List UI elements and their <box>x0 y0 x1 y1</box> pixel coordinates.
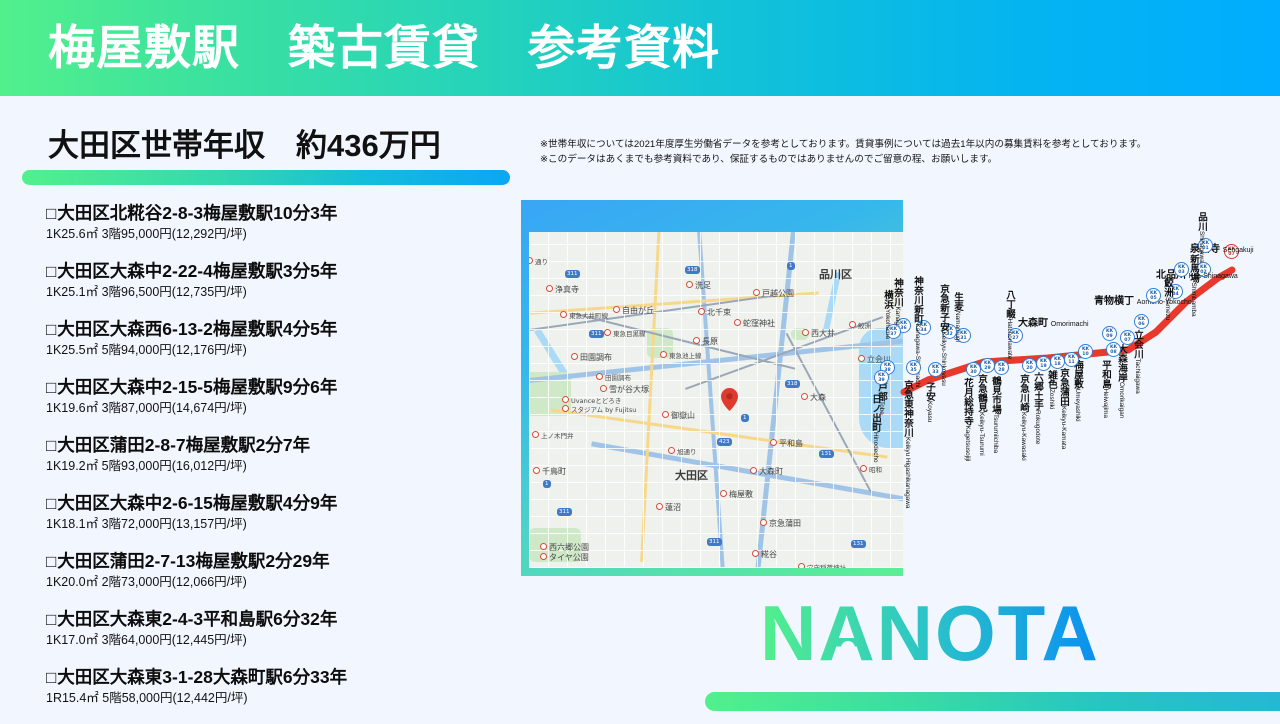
rail-station-name-rom: Omorikaigan <box>1118 382 1125 418</box>
disclaimer-line-1: ※世帯年収については2021年度厚生労働省データを参考としております。賃貸事例に… <box>540 138 1256 153</box>
listing-detail: 1K19.2㎡ 5階93,000円(16,012円/坪) <box>46 458 506 475</box>
map-label: 鮫洲 <box>858 320 871 330</box>
map-station-dot <box>613 306 620 313</box>
rail-station-name-jp: 八丁畷 <box>1004 290 1015 319</box>
rail-station-name: 雑色Zoshiki <box>1044 370 1058 409</box>
rail-station-name-rom: Tachiaigawa <box>1134 359 1141 394</box>
page-header: 梅屋敷駅 築古賃貸 参考資料 <box>0 0 1280 96</box>
listing-item: □大田区大森中2-22-4梅屋敷駅3分5年1K25.1㎡ 3階96,500円(1… <box>46 260 506 301</box>
rail-station-name-jp: 京急川崎 <box>1018 374 1029 412</box>
map-station-dot <box>562 396 569 403</box>
listing-item: □大田区大森中2-6-15梅屋敷駅4分9年1K18.1㎡ 3階72,000円(1… <box>46 492 506 533</box>
map-label: 西大井 <box>811 328 835 339</box>
listing-detail: 1R15.4㎡ 5階58,000円(12,442円/坪) <box>46 690 506 707</box>
map-station-dot <box>752 550 759 557</box>
map-station-dot <box>571 353 578 360</box>
logo-wordmark: NANOTA <box>760 596 1100 676</box>
rail-station-name: 鮫洲Samezu <box>1160 278 1174 320</box>
map-station-dot <box>562 405 569 412</box>
disclaimer-note: ※世帯年収については2021年度厚生労働省データを参考としております。賃貸事例に… <box>540 138 1256 167</box>
rail-station-name: 京急川崎Keikyu-Kawasaki <box>1016 374 1030 461</box>
rail-station-name: 新馬場Shimbamba <box>1186 254 1200 317</box>
rail-station-name-jp: 子安 <box>924 382 935 401</box>
rail-station-name: 京急東神奈川Keikyu Higashikanagawa <box>900 380 914 508</box>
listing-detail: 1K25.1㎡ 3階96,500円(12,735円/坪) <box>46 284 506 301</box>
rail-station-code: KK29 <box>980 358 995 373</box>
map-station-dot <box>801 393 808 400</box>
map-label: 東急大井町線 <box>569 310 608 320</box>
listing-title: □大田区大森中2-6-15梅屋敷駅4分9年 <box>46 492 506 515</box>
checkbox-icon[interactable]: □ <box>46 610 56 629</box>
rail-station-name: 日ノ出町Hinodecho <box>868 394 882 463</box>
map-route-shield: 318 <box>785 380 800 388</box>
rail-station-name-rom: Keikyu-Kawasaki <box>1020 412 1027 461</box>
map-station-dot <box>734 319 741 326</box>
rail-station-name-jp: 鶴見市場 <box>990 376 1001 414</box>
rail-station-name-jp: 大森町 <box>1018 318 1048 329</box>
checkbox-icon[interactable]: □ <box>46 320 56 339</box>
map-label: 大田区 <box>675 467 708 483</box>
listing-detail: 1K19.6㎡ 3階87,000円(14,674円/坪) <box>46 400 506 417</box>
rail-station-name-jp: 新馬場 <box>1188 254 1199 283</box>
map-station-dot <box>660 351 667 358</box>
rail-station-name: 六郷土手Rokugodote <box>1030 372 1044 444</box>
listing-item: □大田区大森西6-13-2梅屋敷駅4分5年1K25.5㎡ 5階94,000円(1… <box>46 318 506 359</box>
page-title: 梅屋敷駅 築古賃貸 参考資料 <box>48 10 720 86</box>
listing-address: 大田区大森中2-15-5梅屋敷駅9分6年 <box>57 377 337 397</box>
rail-station-name-jp: 六郷土手 <box>1032 372 1043 410</box>
rail-station-name: 青物横丁 Aomono-Yokocho <box>1094 292 1192 307</box>
rail-station-code: KK07 <box>1120 330 1135 345</box>
rail-station-name: 平和島Heiwajima <box>1098 360 1112 418</box>
listing-address: 大田区大森中2-22-4梅屋敷駅3分5年 <box>57 261 337 281</box>
listing-item: □大田区北糀谷2-8-3梅屋敷駅10分3年1K25.6㎡ 3階95,000円(1… <box>46 202 506 243</box>
map-route-shield: 318 <box>685 266 700 274</box>
map-route-shield: 1 <box>741 414 749 422</box>
rail-station-name: 鶴見市場Tsurumiichiba <box>988 376 1002 453</box>
rail-station-name-jp: 京急東神奈川 <box>902 380 913 437</box>
rental-listings: □大田区北糀谷2-8-3梅屋敷駅10分3年1K25.6㎡ 3階95,000円(1… <box>46 202 506 724</box>
rail-station-name: 花月総持寺Kagetsusojiji <box>960 378 974 461</box>
map-station-dot <box>698 308 705 315</box>
map-station-dot <box>596 373 603 380</box>
rail-station-name-jp: 京急新子安 <box>938 284 949 332</box>
map-route-shield: 423 <box>717 438 732 446</box>
map-station-dot <box>802 329 809 336</box>
listing-detail: 1K25.6㎡ 3階95,000円(12,292円/坪) <box>46 226 506 243</box>
rail-station-name: 京急蒲田Keikyu-Kamata <box>1056 368 1070 449</box>
map-label: 自由が丘 <box>622 305 654 316</box>
map-label: 洗足 <box>695 280 711 291</box>
disclaimer-line-2: ※このデータはあくまでも参考資料であり、保証するものではありませんのでご留意の程… <box>540 153 1256 168</box>
checkbox-icon[interactable]: □ <box>46 204 56 223</box>
rail-station-name-rom: Omorimachi <box>1051 321 1089 328</box>
map-label: 蛇窪神社 <box>743 318 775 329</box>
rail-station-name-rom: Samezu <box>1164 297 1171 320</box>
map-station-dot <box>760 519 767 526</box>
keikyu-line-diagram: KK07泉岳寺 SengakujiKK01品川ShinagawaKK02北品川 … <box>898 232 1280 532</box>
rail-station-name-rom: Yokohama <box>884 309 891 339</box>
listing-address: 大田区蒲田2-8-7梅屋敷駅2分7年 <box>57 435 310 455</box>
map-label: 穴守稲荷神社 <box>807 562 846 568</box>
listing-address: 大田区北糀谷2-8-3梅屋敷駅10分3年 <box>57 203 337 223</box>
rail-station-name-rom: Heiwajima <box>1102 389 1109 418</box>
map-station-dot <box>560 311 567 318</box>
map-station-dot <box>532 431 539 438</box>
map-route-shield: 311 <box>557 508 572 516</box>
rail-station-code: KK30 <box>966 362 981 377</box>
map-station-dot <box>860 465 867 472</box>
map-label: 東急目黒線 <box>613 328 646 338</box>
listing-detail: 1K25.5㎡ 5階94,000円(12,176円/坪) <box>46 342 506 359</box>
rail-station-name-rom: Kagetsusojiji <box>964 426 971 462</box>
map-station-dot <box>750 467 757 474</box>
rail-station-code: KK05 <box>1146 288 1161 303</box>
rail-station-code: KK33 <box>928 362 943 377</box>
checkbox-icon[interactable]: □ <box>46 436 56 455</box>
map-station-dot <box>770 439 777 446</box>
map-station-dot <box>753 289 760 296</box>
rail-station-name-jp: 日ノ出町 <box>870 394 881 432</box>
map-station-dot <box>693 337 700 344</box>
listing-item: □大田区大森東2-4-3平和島駅6分32年1K17.0㎡ 3階64,000円(1… <box>46 608 506 649</box>
map-label: 京急蒲田 <box>769 518 801 529</box>
map-station-dot <box>686 281 693 288</box>
map-route-shield: 131 <box>851 540 866 548</box>
logo-dot-a1 <box>841 641 855 655</box>
map-label: 田園調布 <box>580 352 612 363</box>
map-label: 浄真寺 <box>555 284 579 295</box>
rail-station-code: KK06 <box>1134 314 1149 329</box>
listing-address: 大田区蒲田2-7-13梅屋敷駅2分29年 <box>57 551 329 571</box>
map-label: 上ノ木門弁 <box>541 430 574 440</box>
nanota-logo: NANOTA <box>760 596 1200 676</box>
map-route-shield: 1 <box>543 480 551 488</box>
checkbox-icon[interactable]: □ <box>46 494 56 513</box>
rail-station-name-rom: Hatchonawate <box>1006 319 1013 360</box>
listing-address: 大田区大森中2-6-15梅屋敷駅4分9年 <box>57 493 337 513</box>
listing-detail: 1K17.0㎡ 3階64,000円(12,445円/坪) <box>46 632 506 649</box>
rail-station-name-rom: Keikyu-Tsurumi <box>978 412 985 456</box>
map-route-shield: 1 <box>787 262 795 270</box>
listing-title: □大田区大森東3-1-28大森町駅6分33年 <box>46 666 506 689</box>
rail-station-name-jp: 平和島 <box>1100 360 1111 389</box>
listing-title: □大田区大森中2-15-5梅屋敷駅9分6年 <box>46 376 506 399</box>
rail-station-code: KK19 <box>1036 356 1051 371</box>
logo-dot-a2 <box>1105 641 1119 655</box>
rail-station-name: 京急鶴見Keikyu-Tsurumi <box>974 374 988 456</box>
rail-station-name-jp: 鮫洲 <box>1162 278 1173 297</box>
rail-station-name: 八丁畷Hatchonawate <box>1002 290 1016 359</box>
rail-station-name-jp: 神奈川新町 <box>912 276 923 324</box>
map-route-shield: 311 <box>589 330 604 338</box>
listing-detail: 1K18.1㎡ 3階72,000円(13,157円/坪) <box>46 516 506 533</box>
rail-station-name-jp: 京急蒲田 <box>1058 368 1069 406</box>
map-station-dot <box>858 355 865 362</box>
logo-accent-bar <box>705 692 1280 711</box>
map-label: 糀谷 <box>761 549 777 560</box>
listing-title: □大田区大森西6-13-2梅屋敷駅4分5年 <box>46 318 506 341</box>
rail-station-name-rom: Keikyu-Kamata <box>1060 406 1067 449</box>
map-label: 長原 <box>702 336 718 347</box>
rail-station-name-jp: 京急鶴見 <box>976 374 987 412</box>
checkbox-icon[interactable]: □ <box>46 262 56 281</box>
map-label: 品川区 <box>819 266 852 282</box>
map-label: 蓮沼 <box>665 502 681 513</box>
map-label: 千鳥町 <box>542 466 566 477</box>
listing-detail: 1K20.0㎡ 2階73,000円(12,066円/坪) <box>46 574 506 591</box>
map-station-dot <box>533 467 540 474</box>
listing-address: 大田区大森西6-13-2梅屋敷駅4分5年 <box>57 319 337 339</box>
map-location-marker[interactable] <box>721 388 738 411</box>
rail-station-name-jp: 横浜 <box>882 290 893 309</box>
map-label: 平和島 <box>779 438 803 449</box>
map-label: 田園調布 <box>605 372 631 382</box>
map-station-dot <box>668 447 675 454</box>
rail-station-code: KK28 <box>994 360 1009 375</box>
map-label: 昭和 <box>869 464 882 474</box>
listing-item: □大田区蒲田2-8-7梅屋敷駅2分7年1K19.2㎡ 5階93,000円(16,… <box>46 434 506 475</box>
rail-station-code: KK35 <box>906 360 921 375</box>
rail-station-code: KK39 <box>874 370 889 385</box>
listing-address: 大田区大森東2-4-3平和島駅6分32年 <box>57 609 337 629</box>
rail-station-code: KK18 <box>1050 354 1065 369</box>
rail-station-name-rom: Zoshiki <box>1048 389 1055 409</box>
rail-station-name-rom: Tsurumiichiba <box>992 414 999 453</box>
heading-accent-bar <box>22 170 510 185</box>
rail-station-name-rom: Rokugodote <box>1034 410 1041 444</box>
map-frame: 品川区大田区浄真寺自由が丘洗足北千束戸越公園蛇窪神社長原西大井田園調布田園調布雪… <box>521 200 903 576</box>
rail-station-name: 大森町 Omorimachi <box>1018 314 1089 329</box>
map-route-shield: 131 <box>819 450 834 458</box>
listing-item: □大田区蒲田2-7-13梅屋敷駅2分29年1K20.0㎡ 2階73,000円(1… <box>46 550 506 591</box>
listing-title: □大田区蒲田2-7-13梅屋敷駅2分29年 <box>46 550 506 573</box>
rail-station-name-jp: 青物横丁 <box>1094 296 1134 307</box>
rail-station-code: KK20 <box>1022 358 1037 373</box>
rail-station-name-rom: Keikyu-Shinkoyasu <box>940 332 947 386</box>
rail-station-name-jp: 花月総持寺 <box>962 378 973 426</box>
map-station-dot <box>720 490 727 497</box>
listing-title: □大田区大森中2-22-4梅屋敷駅3分5年 <box>46 260 506 283</box>
map-label: 大森町 <box>759 466 783 477</box>
map-station-dot <box>540 543 547 550</box>
listing-item: □大田区大森中2-15-5梅屋敷駅9分6年1K19.6㎡ 3階87,000円(1… <box>46 376 506 417</box>
rail-station-name: 横浜Yokohama <box>880 290 894 339</box>
map-station-dot <box>656 503 663 510</box>
map-station-dot <box>662 411 669 418</box>
map-route-shield: 311 <box>707 538 722 546</box>
map-label: タイヤ公園 <box>549 552 589 563</box>
listing-item: □大田区大森東3-1-28大森町駅6分33年1R15.4㎡ 5階58,000円(… <box>46 666 506 707</box>
rail-station-code: KK09 <box>1102 326 1117 341</box>
map-label: スタジアム by Fujitsu <box>571 404 636 414</box>
rail-station-name-rom: Koyasu <box>926 401 933 422</box>
map-station-dot <box>540 553 547 560</box>
rail-station-code: KK11 <box>1064 352 1079 367</box>
rail-station-name-jp: 品川 <box>1196 212 1207 231</box>
checkbox-icon[interactable]: □ <box>46 552 56 571</box>
map-station-dot <box>849 321 856 328</box>
rail-station-name: 梅屋敷Umeyashiki <box>1070 360 1084 422</box>
listing-address: 大田区大森東3-1-28大森町駅6分33年 <box>57 667 347 687</box>
map-station-dot <box>546 285 553 292</box>
listing-title: □大田区北糀谷2-8-3梅屋敷駅10分3年 <box>46 202 506 225</box>
rail-station-name-rom: Umeyashiki <box>1074 389 1081 422</box>
rail-station-name: 子安Koyasu <box>922 382 936 422</box>
listing-title: □大田区大森東2-4-3平和島駅6分32年 <box>46 608 506 631</box>
rail-station-name-rom: Sengakuji <box>1223 247 1254 254</box>
map-label: 旭通り <box>677 446 697 456</box>
map-station-dot <box>798 563 805 568</box>
map-label: 梅屋敷 <box>729 489 753 500</box>
rail-station-name-rom: Keikyu Higashikanagawa <box>904 437 911 508</box>
map-label: 戸越公園 <box>762 288 794 299</box>
map-station-dot <box>604 329 611 336</box>
map-station-dot <box>600 385 607 392</box>
map-label: 大森 <box>810 392 826 403</box>
map-label: 御嶽山 <box>671 410 695 421</box>
rail-station-name-rom: Kanagawa-Shimmachi <box>914 324 921 388</box>
listing-title: □大田区蒲田2-8-7梅屋敷駅2分7年 <box>46 434 506 457</box>
checkbox-icon[interactable]: □ <box>46 378 56 397</box>
rail-station-code: KK08 <box>1106 342 1121 357</box>
checkbox-icon[interactable]: □ <box>46 668 56 687</box>
map-image[interactable]: 品川区大田区浄真寺自由が丘洗足北千束戸越公園蛇窪神社長原西大井田園調布田園調布雪… <box>529 232 903 568</box>
household-income-heading: 大田区世帯年収 約436万円 <box>48 120 441 165</box>
rail-station-name-rom: Hinodecho <box>872 432 879 463</box>
map-route-shield: 311 <box>565 270 580 278</box>
map-label: 通り <box>535 256 548 266</box>
map-label: 東急池上線 <box>669 350 702 360</box>
map-label: 雪が谷大塚 <box>609 384 649 395</box>
rail-station-name-jp: 生麦 <box>952 292 963 311</box>
map-label: 北千束 <box>707 307 731 318</box>
rail-station-name-jp: 雑色 <box>1046 370 1057 389</box>
rail-station-code: KK10 <box>1078 344 1093 359</box>
